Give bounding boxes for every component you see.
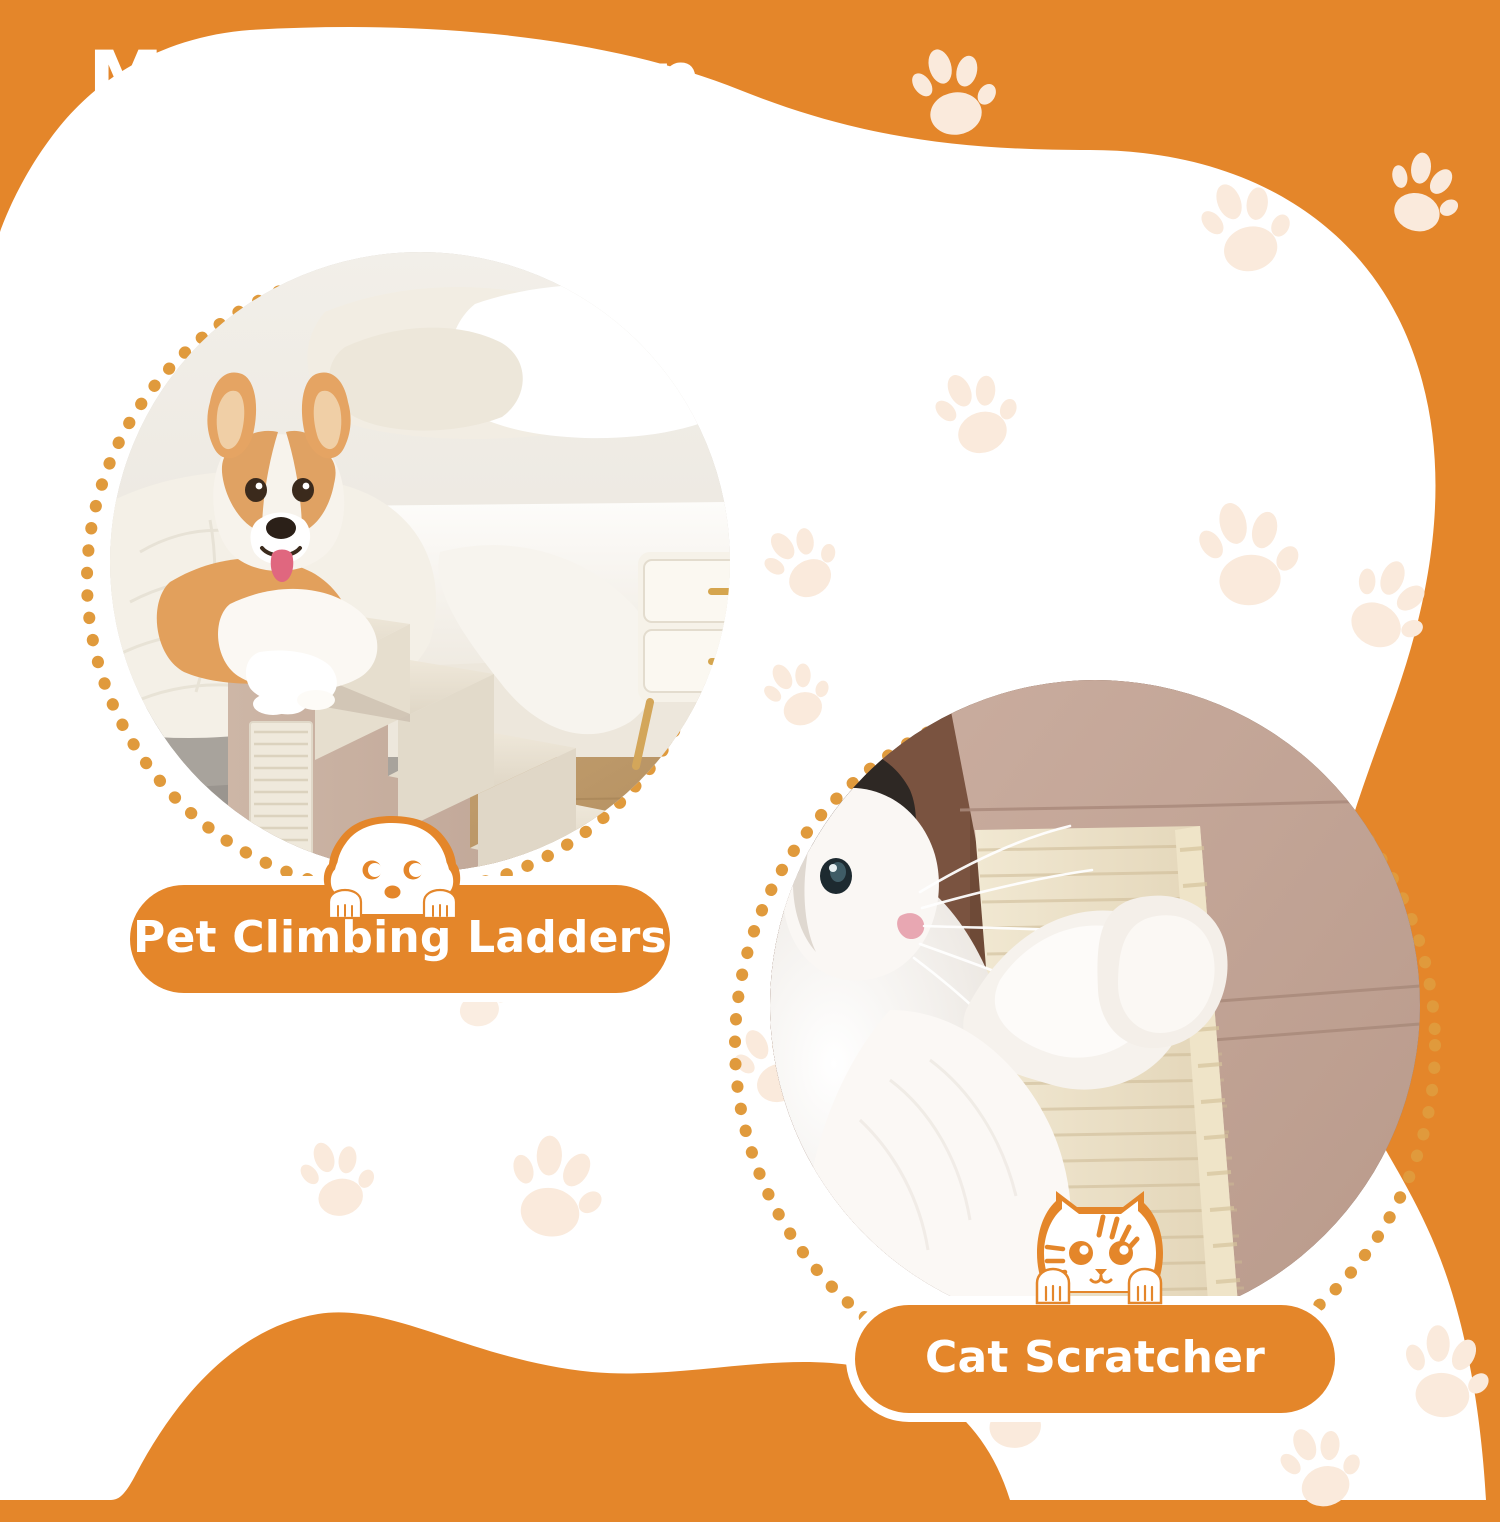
badge-label: Cat Scratcher (925, 1336, 1265, 1380)
paw-print-icon (899, 36, 1004, 146)
panel-cat-scratcher: Cat Scratcher (700, 660, 1470, 1450)
paw-print-icon (1184, 490, 1306, 617)
badge-cat-scratcher[interactable]: Cat Scratcher (855, 1305, 1335, 1413)
dog-peeking-icon (315, 810, 470, 930)
poster-canvas: Multi-Function (0, 0, 1500, 1500)
photo-pet-stairs-with-dog (110, 252, 730, 872)
paw-print-icon (491, 1122, 614, 1251)
cat-peeking-icon (1025, 1187, 1175, 1317)
page-title: Multi-Function (88, 34, 701, 123)
panel-pet-climbing-ladders: Pet Climbing Ladders (50, 230, 750, 1020)
